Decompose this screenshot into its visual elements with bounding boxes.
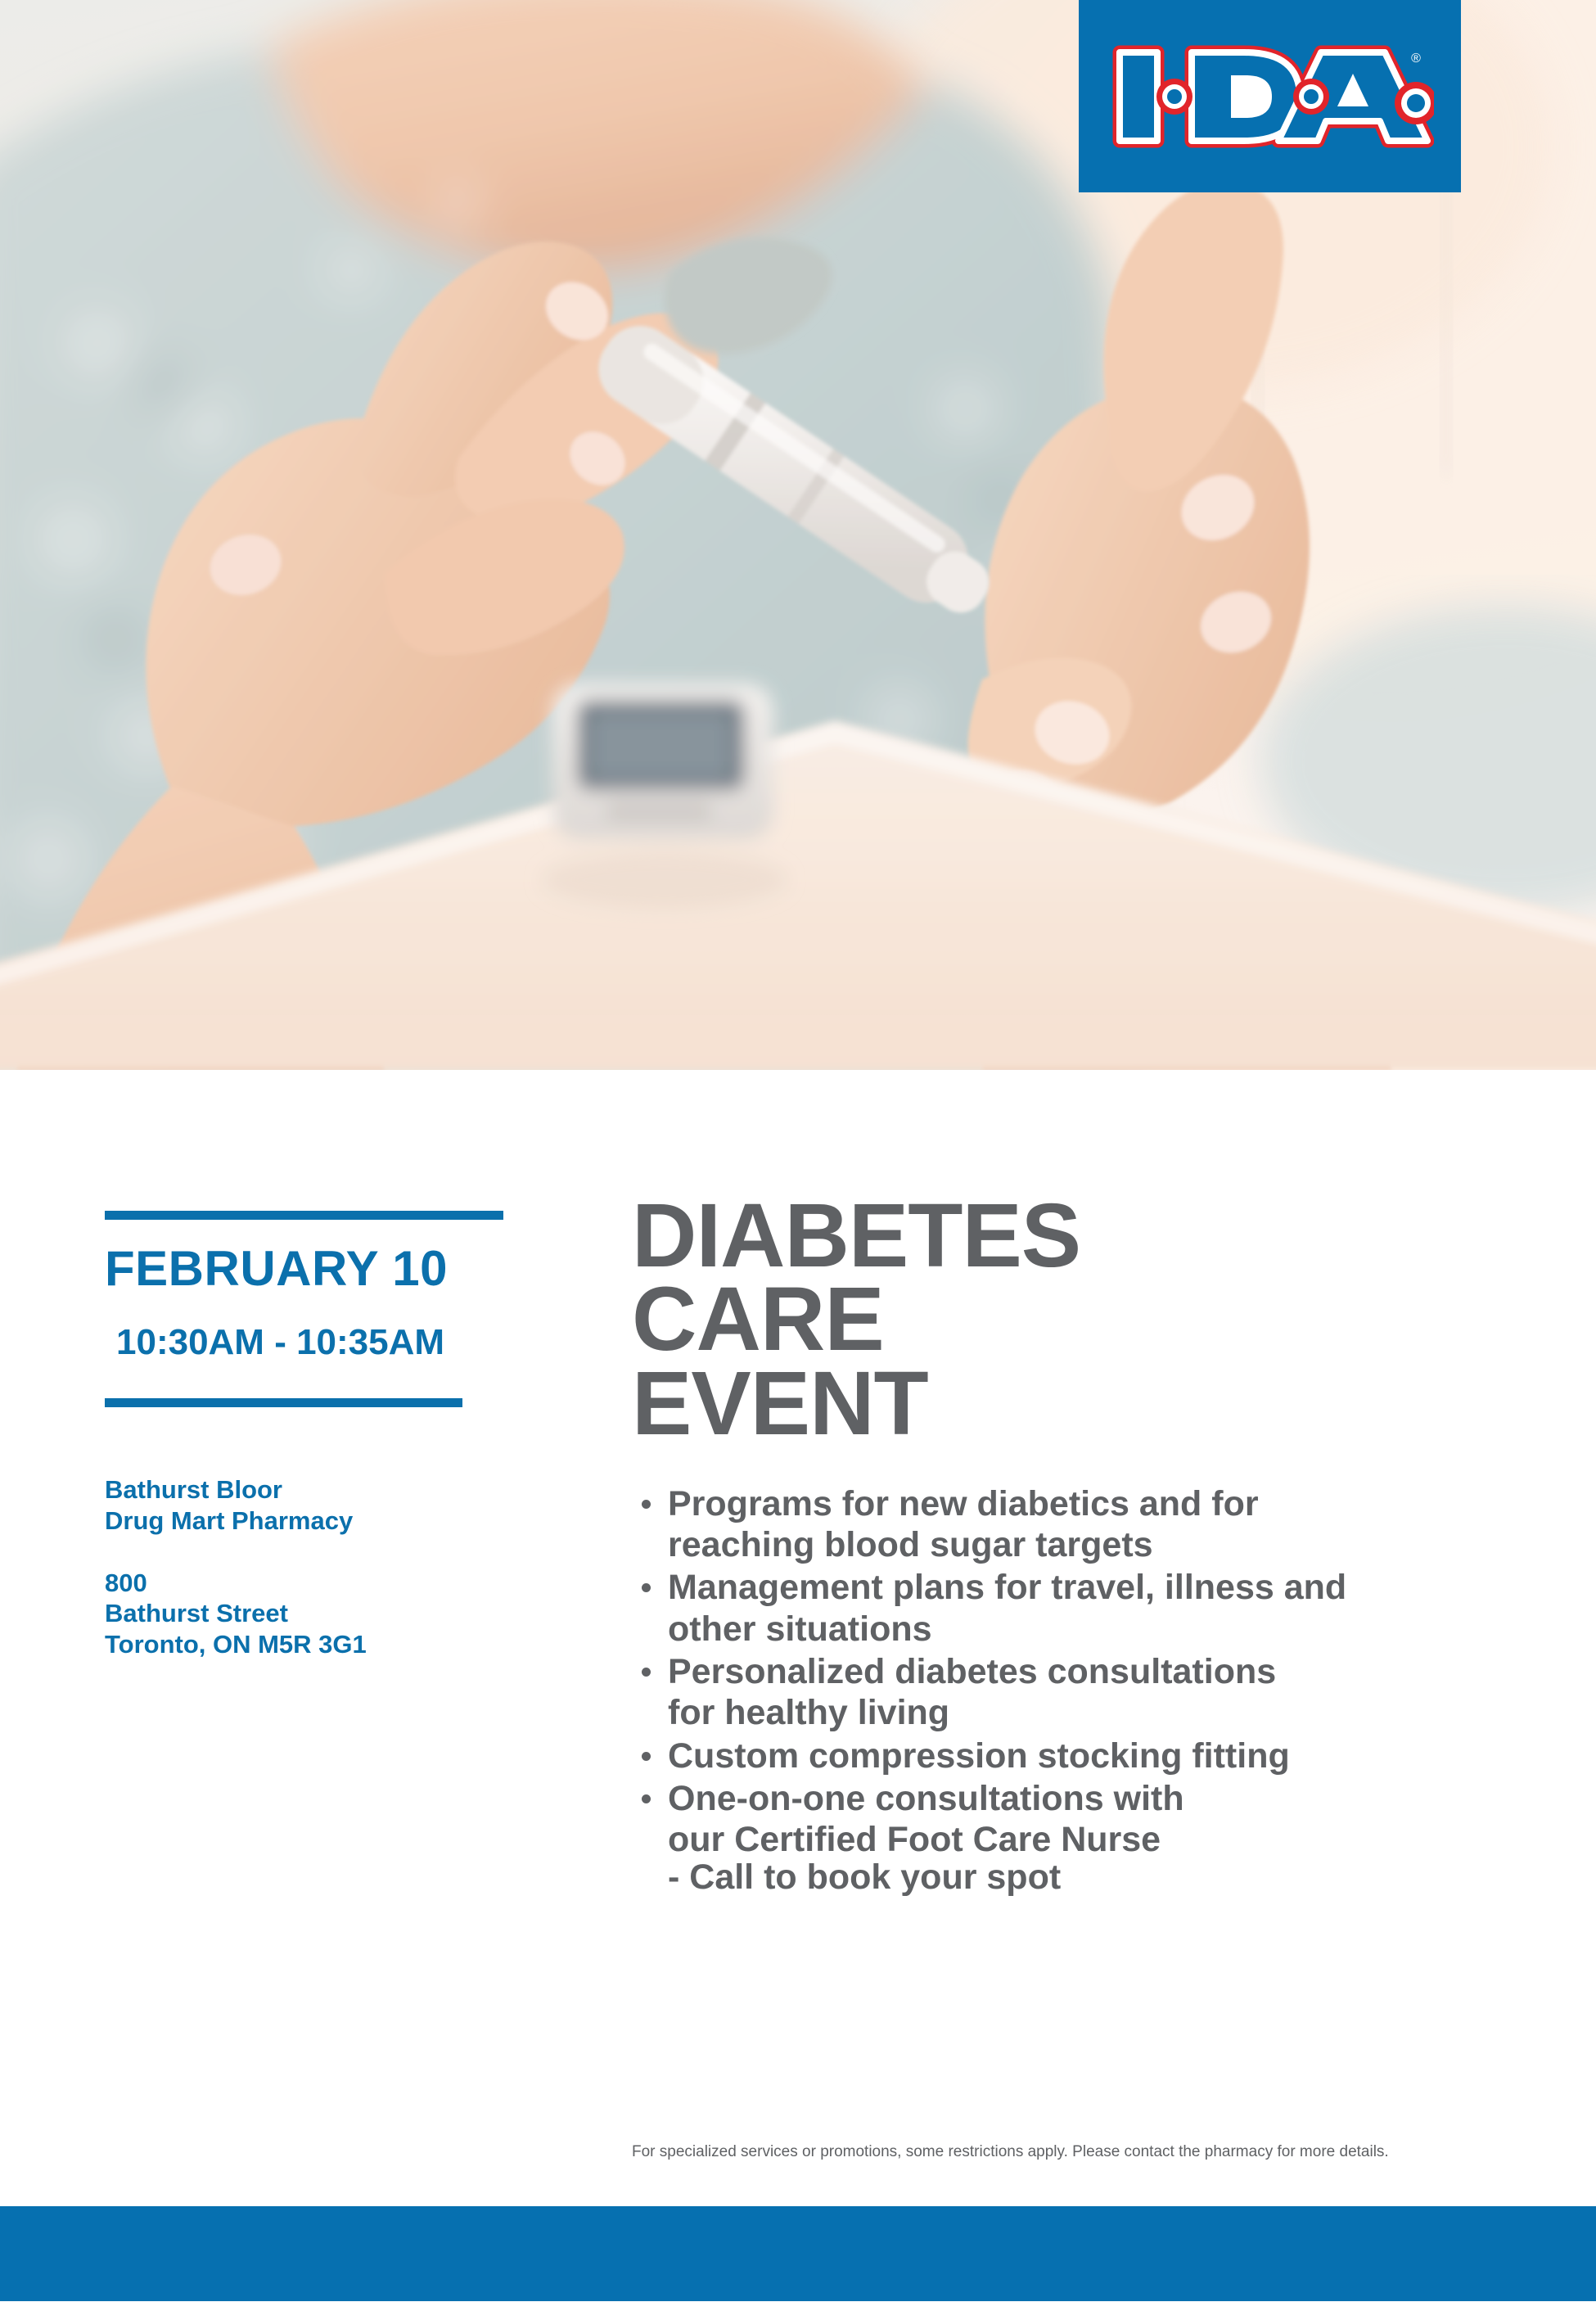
list-item-text: One-on-one consultations with our Certif… bbox=[668, 1778, 1557, 1861]
list-item-line1: Management plans for travel, illness and bbox=[668, 1567, 1557, 1608]
list-item-line2: our Certified Foot Care Nurse bbox=[668, 1819, 1557, 1860]
page-title-line3: EVENT bbox=[632, 1362, 1557, 1446]
address-line1: 800 bbox=[105, 1568, 514, 1599]
list-item-line2: reaching blood sugar targets bbox=[668, 1524, 1557, 1565]
bullet-dot-icon bbox=[642, 1500, 651, 1509]
poster: ® FEBRUARY 10 10:30AM - 10:35AM Bathurst… bbox=[0, 0, 1596, 2311]
hero-photo: ® bbox=[0, 0, 1596, 1070]
list-item-line1: One-on-one consultations with bbox=[668, 1778, 1557, 1819]
divider-top bbox=[105, 1211, 503, 1220]
bullet-dot-icon bbox=[642, 1752, 651, 1761]
ida-logo: ® bbox=[1079, 0, 1461, 192]
registered-mark: ® bbox=[1411, 52, 1421, 65]
event-details-column: FEBRUARY 10 10:30AM - 10:35AM Bathurst B… bbox=[105, 1211, 514, 1660]
event-date: FEBRUARY 10 bbox=[105, 1244, 514, 1293]
list-item-text: Custom compression stocking fitting bbox=[668, 1736, 1557, 1776]
list-item-line2: for healthy living bbox=[668, 1692, 1557, 1733]
bullet-dot-icon bbox=[642, 1794, 651, 1803]
pharmacy-address: 800 Bathurst Street Toronto, ON M5R 3G1 bbox=[105, 1568, 514, 1660]
list-item: Custom compression stocking fitting bbox=[632, 1736, 1557, 1776]
divider-bottom-wrap bbox=[105, 1398, 514, 1407]
page-title: DIABETES CARE EVENT bbox=[632, 1194, 1557, 1446]
list-item: Personalized diabetes consultations for … bbox=[632, 1651, 1557, 1734]
divider-bottom bbox=[105, 1398, 462, 1407]
address-line2: Bathurst Street bbox=[105, 1598, 514, 1629]
list-item: One-on-one consultations with our Certif… bbox=[632, 1778, 1557, 1861]
list-item-line1: Programs for new diabetics and for bbox=[668, 1483, 1557, 1524]
address-line3: Toronto, ON M5R 3G1 bbox=[105, 1629, 514, 1660]
list-item-text: Programs for new diabetics and for reach… bbox=[668, 1483, 1557, 1566]
list-item-line2: other situations bbox=[668, 1609, 1557, 1650]
ida-logo-icon: ® bbox=[1107, 34, 1434, 159]
pharmacy-name: Bathurst Bloor Drug Mart Pharmacy bbox=[105, 1474, 514, 1537]
page-title-line2: CARE bbox=[632, 1278, 1557, 1361]
page-title-line1: DIABETES bbox=[632, 1194, 1557, 1278]
pharmacy-name-line2: Drug Mart Pharmacy bbox=[105, 1505, 514, 1537]
list-item-line1: Personalized diabetes consultations bbox=[668, 1651, 1557, 1692]
content-area: FEBRUARY 10 10:30AM - 10:35AM Bathurst B… bbox=[0, 1070, 1596, 2311]
list-item: Programs for new diabetics and for reach… bbox=[632, 1483, 1557, 1566]
event-time: 10:30AM - 10:35AM bbox=[116, 1325, 514, 1361]
bullet-dot-icon bbox=[642, 1668, 651, 1677]
list-item-text: Personalized diabetes consultations for … bbox=[668, 1651, 1557, 1734]
pharmacy-name-line1: Bathurst Bloor bbox=[105, 1474, 514, 1505]
call-to-action-text: - Call to book your spot bbox=[668, 1857, 1557, 1898]
list-item-text: Management plans for travel, illness and… bbox=[668, 1567, 1557, 1650]
bullet-dot-icon bbox=[642, 1583, 651, 1592]
footer-bar bbox=[0, 2206, 1596, 2301]
event-description-column: DIABETES CARE EVENT Programs for new dia… bbox=[632, 1194, 1557, 1903]
disclaimer-text: For specialized services or promotions, … bbox=[632, 2144, 1557, 2161]
list-item: Management plans for travel, illness and… bbox=[632, 1567, 1557, 1650]
list-item-line1: Custom compression stocking fitting bbox=[668, 1736, 1557, 1776]
services-list: Programs for new diabetics and for reach… bbox=[632, 1483, 1557, 1861]
